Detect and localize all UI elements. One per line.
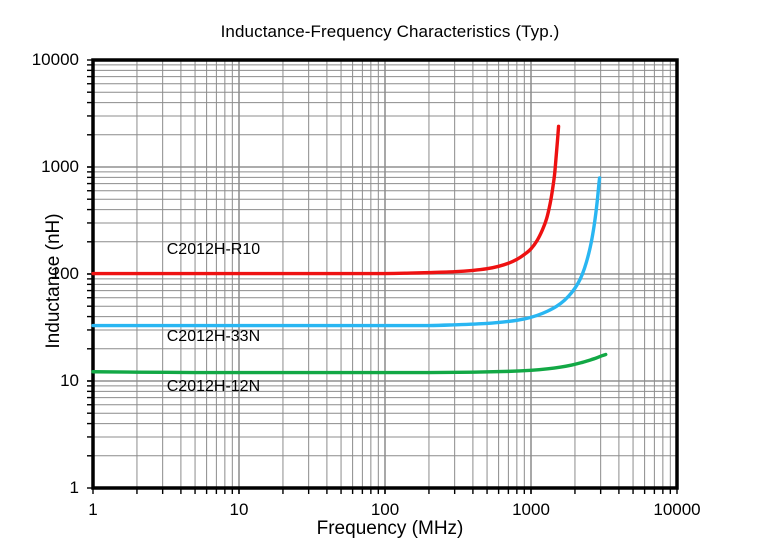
plot-area — [0, 0, 780, 560]
x-axis-title: Frequency (MHz) — [0, 518, 780, 540]
y-tick-label: 1000 — [0, 157, 79, 177]
y-tick-label: 10 — [0, 371, 79, 391]
series-curve-c2012h-12n — [93, 354, 606, 372]
inductance-frequency-chart: Inductance-Frequency Characteristics (Ty… — [0, 0, 780, 560]
x-tick-label: 1000 — [512, 500, 550, 520]
x-tick-label: 10000 — [653, 500, 700, 520]
y-tick-label: 1 — [0, 478, 79, 498]
x-tick-label: 1 — [88, 500, 97, 520]
x-tick-label: 10 — [230, 500, 249, 520]
series-label-c2012h-r10: C2012H-R10 — [167, 241, 260, 259]
y-axis-title: Inductance (nH) — [43, 131, 65, 431]
x-tick-label: 100 — [371, 500, 399, 520]
series-label-c2012h-12n: C2012H-12N — [167, 378, 260, 396]
y-tick-label: 100 — [0, 264, 79, 284]
series-label-c2012h-33n: C2012H-33N — [167, 328, 260, 346]
y-tick-label: 10000 — [0, 50, 79, 70]
